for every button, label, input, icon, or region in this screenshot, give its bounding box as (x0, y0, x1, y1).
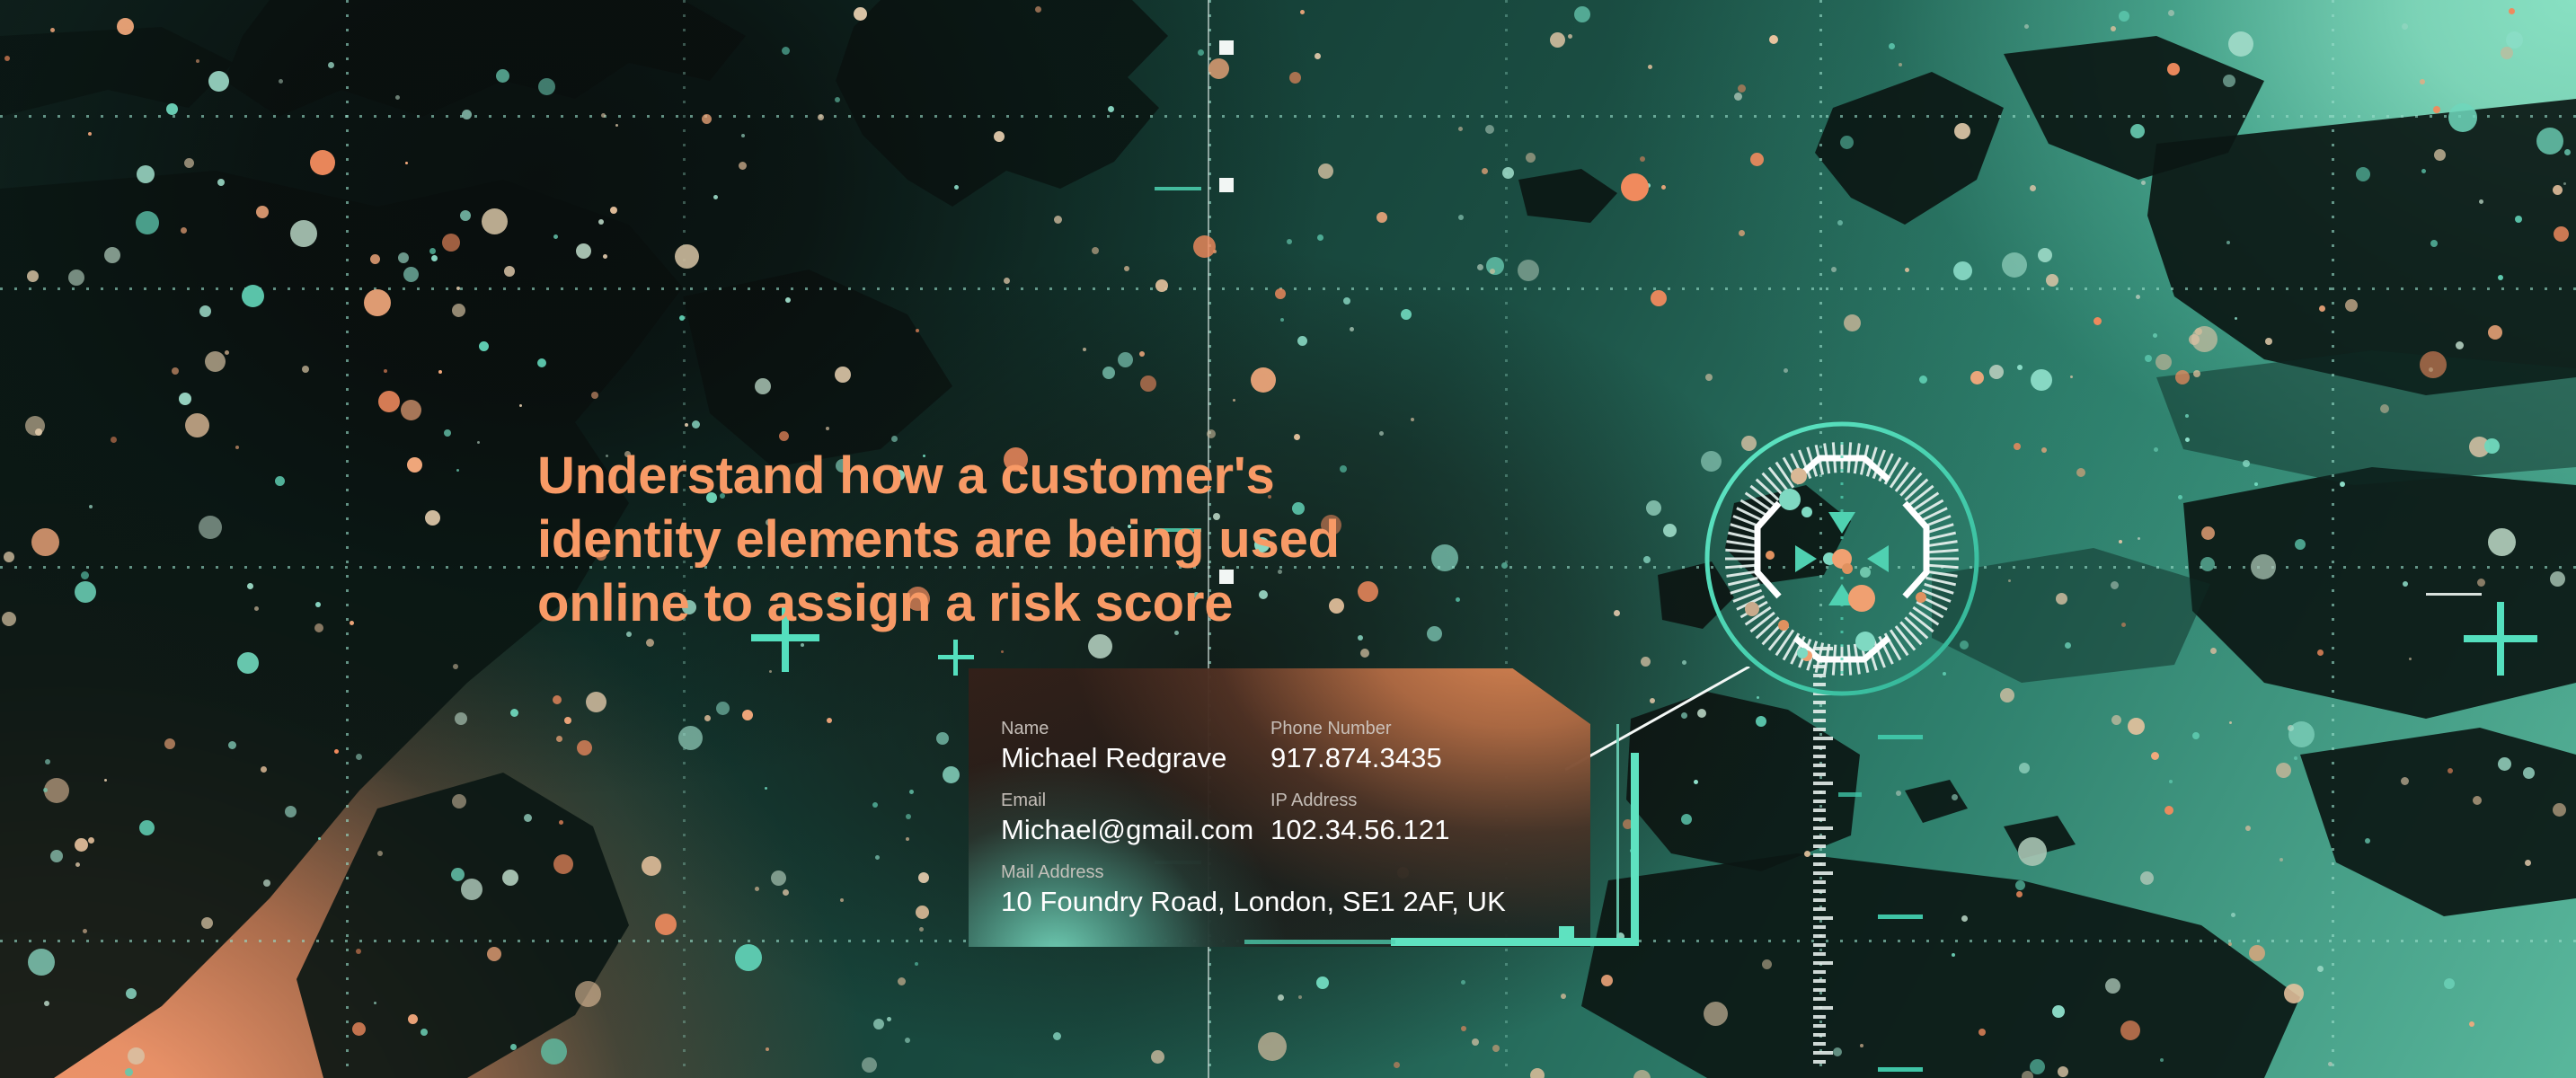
field-label: IP Address (1270, 789, 1450, 812)
card-accent-bracket-horizontal (1391, 938, 1639, 946)
identity-info-card[interactable]: Name Michael Redgrave Phone Number 917.8… (969, 668, 1590, 947)
field-value: 102.34.56.121 (1270, 812, 1450, 848)
card-field-phone: Phone Number 917.874.3435 (1270, 717, 1442, 776)
field-label: Name (1001, 717, 1270, 740)
card-accent-square (1559, 926, 1574, 941)
card-accent-thin-line (1616, 724, 1619, 940)
card-field-name: Name Michael Redgrave (1001, 717, 1270, 776)
field-label: Phone Number (1270, 717, 1442, 740)
field-label: Email (1001, 789, 1270, 812)
page-title: Understand how a customer's identity ele… (537, 444, 1490, 635)
identity-scan-radar (1689, 406, 1995, 711)
map-crosshair (2464, 602, 2537, 676)
card-row: Email Michael@gmail.com IP Address 102.3… (1001, 789, 1563, 848)
card-accent-bracket-vertical (1631, 753, 1639, 946)
card-field-email: Email Michael@gmail.com (1001, 789, 1270, 848)
field-value: 10 Foundry Road, London, SE1 2AF, UK (1001, 884, 1506, 920)
field-value: Michael Redgrave (1001, 740, 1270, 776)
card-field-mail-address: Mail Address 10 Foundry Road, London, SE… (1001, 861, 1506, 920)
card-row: Mail Address 10 Foundry Road, London, SE… (1001, 861, 1563, 920)
card-row: Name Michael Redgrave Phone Number 917.8… (1001, 717, 1563, 776)
field-value: 917.874.3435 (1270, 740, 1442, 776)
card-field-ip: IP Address 102.34.56.121 (1270, 789, 1450, 848)
field-label: Mail Address (1001, 861, 1506, 884)
hero-banner: Understand how a customer's identity ele… (0, 0, 2576, 1078)
card-accent-bracket-tail (1244, 940, 1395, 944)
field-value: Michael@gmail.com (1001, 812, 1270, 848)
